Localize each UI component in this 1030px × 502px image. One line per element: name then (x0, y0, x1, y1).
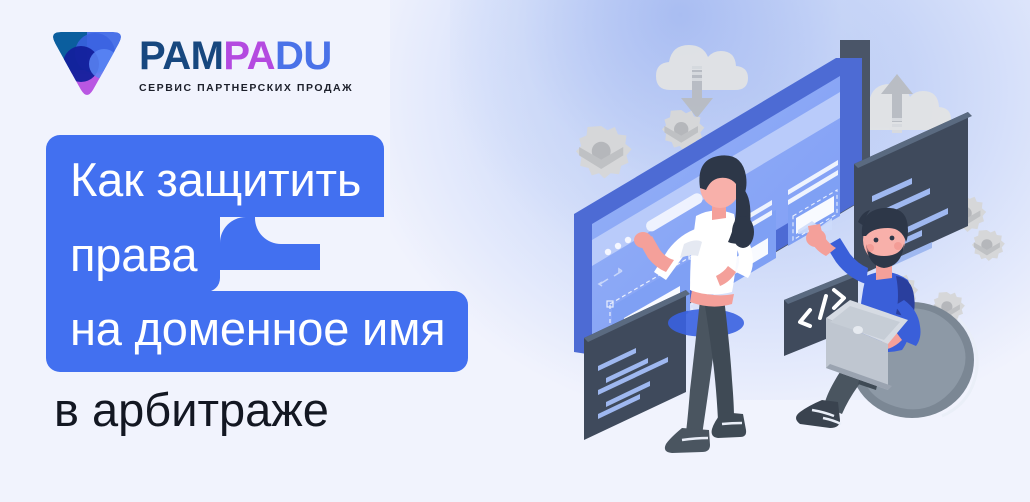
cloud-download-icon (656, 45, 748, 118)
gear-icon (972, 230, 1005, 261)
brand-tagline: СЕРВИС ПАРТНЕРСКИХ ПРОДАЖ (139, 82, 353, 94)
pampadu-triangle-logo-icon (47, 24, 127, 102)
headline-row-1: Как защитить (46, 135, 606, 217)
headline-row-2: права (46, 217, 606, 292)
wordmark-text: PAMPADU (139, 36, 353, 76)
headline-seam (255, 217, 375, 244)
wordmark-part-2: PA (223, 34, 275, 78)
brand-logo[interactable]: PAMPADU СЕРВИС ПАРТНЕРСКИХ ПРОДАЖ (47, 24, 353, 102)
headline-row-3: на доменное имя (46, 292, 606, 372)
illustration-isometric-web-design-team (540, 0, 1030, 502)
headline-line-4: в арбитраже (54, 386, 606, 433)
brand-wordmark: PAMPADU СЕРВИС ПАРТНЕРСКИХ ПРОДАЖ (139, 32, 353, 94)
promo-banner: PAMPADU СЕРВИС ПАРТНЕРСКИХ ПРОДАЖ Как за… (0, 0, 1030, 502)
wordmark-part-3: DU (275, 34, 332, 78)
gear-icon (576, 126, 632, 179)
wordmark-part-1: PAM (139, 34, 223, 78)
headline-line-3: на доменное имя (46, 291, 468, 372)
headline: Как защитить права на доменное имя в арб… (46, 135, 606, 433)
headline-line-1: Как защитить (46, 135, 384, 217)
headline-line-2: права (46, 217, 220, 292)
cloud-upload-icon (856, 74, 951, 133)
